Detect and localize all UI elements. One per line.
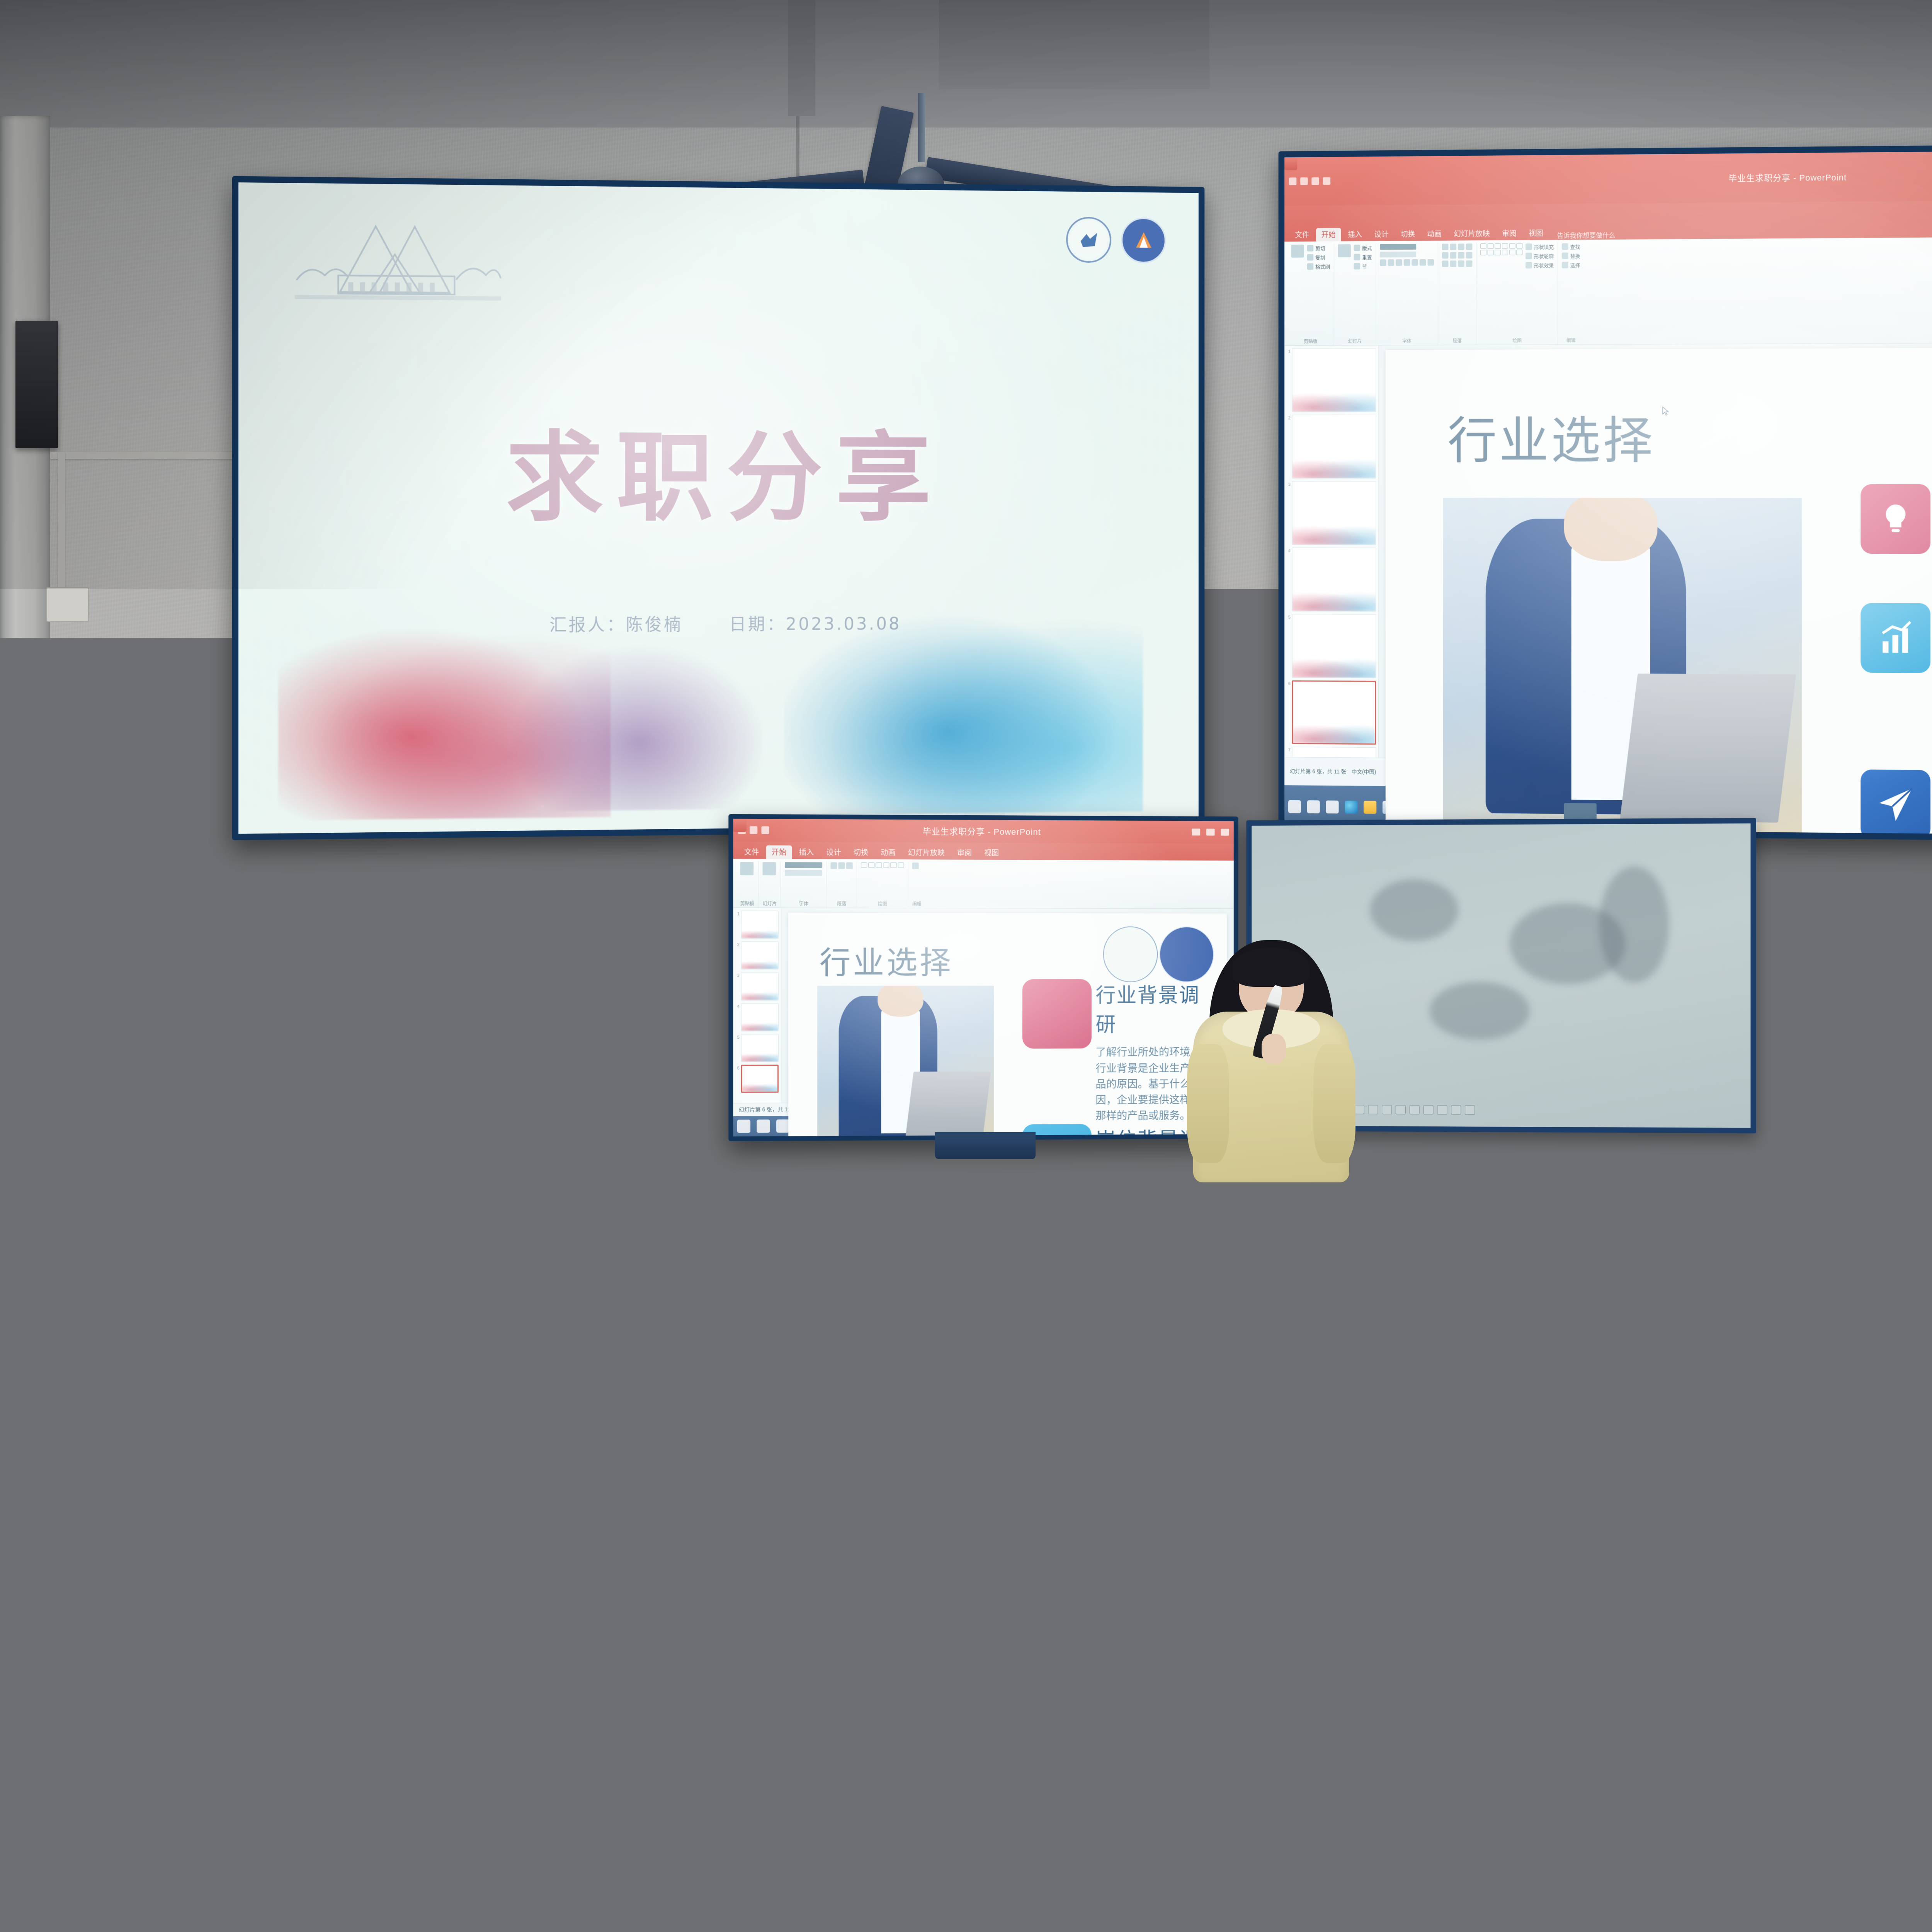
replace-icon	[1562, 253, 1568, 259]
copy-button[interactable]: 复制	[1307, 254, 1330, 261]
close-icon[interactable]	[1221, 829, 1229, 836]
monitor-tab-home[interactable]: 开始	[766, 845, 792, 859]
align-center-icon[interactable]	[1450, 261, 1456, 267]
bullets-icon[interactable]	[830, 862, 837, 869]
select-button[interactable]: 选择	[1562, 262, 1580, 269]
monitor-title-bar: 毕业生求职分享 - PowerPoint	[733, 819, 1233, 844]
ribbon-group-drawing[interactable]: 形状填充 形状轮廓 形状效果 绘图	[1476, 242, 1558, 345]
clipboard-group-label: 剪贴板	[1291, 337, 1330, 345]
podium-monitor-surface: 毕业生求职分享 - PowerPoint 文件 开始 插入 设计 切换 动画 幻…	[733, 819, 1233, 1136]
shape-banner-icon[interactable]	[1509, 250, 1515, 255]
monitor-workspace: 1 2 3 4 5 6 行业选择	[733, 908, 1233, 1103]
ribbon[interactable]: 剪切 复制 格式刷 剪贴板	[1284, 235, 1932, 346]
thumbnail-number: 4	[736, 1003, 740, 1009]
slide-bullet-blocks: 行业背景调研 了解行业所处的环境、行业背景是企业生产产品的原因。基于什么原因，企…	[1861, 484, 1932, 837]
lightbulb-icon	[1022, 979, 1091, 1049]
thumbnail-number: 1	[736, 911, 740, 917]
slide-editing-canvas[interactable]: 行业选择	[1379, 342, 1932, 764]
left-projection-screen: 求职分享 汇报人：陈俊楠日期：2023.03.08	[232, 176, 1205, 840]
font-color-icon[interactable]	[1428, 259, 1434, 266]
monitor-tab-strip[interactable]: 文件 开始 插入 设计 切换 动画 幻灯片放映 审阅 视图	[733, 842, 1233, 861]
font-size-box[interactable]	[1380, 252, 1416, 257]
find-label: 查找	[1570, 243, 1580, 250]
slide-thumbnail-4[interactable]	[1292, 548, 1376, 612]
layout-icon	[1354, 245, 1361, 252]
slide-emblem-group	[1066, 217, 1166, 264]
shape-effects-label: 形状效果	[1534, 262, 1554, 269]
camera-on-desk	[846, 1522, 947, 1596]
monitor-slide-heading: 行业选择	[820, 938, 953, 983]
shape-line-icon[interactable]	[1488, 243, 1494, 249]
slide-thumbnail-3[interactable]	[1292, 481, 1376, 545]
shape-fill-label: 形状填充	[1534, 243, 1554, 250]
powerpoint-window: 毕业生求职分享 - PowerPoint 文件 开始 插入 设计 切换 动画 幻…	[1284, 148, 1932, 837]
thumbnail-number: 3	[1287, 481, 1291, 487]
university-emblem-round	[1066, 217, 1111, 263]
reset-button[interactable]: 重置	[1354, 253, 1372, 261]
monitor-shape-gallery[interactable]	[861, 862, 904, 868]
monitor-ribbon[interactable]: 剪贴板 幻灯片 字体 段落	[733, 859, 1233, 909]
search-icon[interactable]	[1307, 800, 1320, 813]
monitor-tab-transitions[interactable]: 切换	[848, 845, 874, 859]
whiteboard-smudge	[1370, 879, 1459, 941]
bullets-icon[interactable]	[1442, 244, 1449, 250]
paper-plane-icon	[1861, 770, 1930, 837]
ribbon-tab-strip[interactable]: 文件 开始 插入 设计 切换 动画 幻灯片放映 审阅 视图 告诉我你想要做什么 …	[1284, 198, 1932, 242]
podium-monitor-powerpoint: 毕业生求职分享 - PowerPoint 文件 开始 插入 设计 切换 动画 幻…	[733, 819, 1233, 1136]
tab-view[interactable]: 视图	[1523, 227, 1548, 240]
monitor-group-clipboard[interactable]: 剪贴板	[736, 861, 759, 908]
audience-head	[622, 1173, 701, 1252]
thumbnail-row[interactable]: 3	[736, 972, 779, 1000]
italic-icon[interactable]	[1388, 260, 1395, 266]
quick-access-toolbar[interactable]	[1289, 177, 1330, 185]
slide-heading[interactable]: 行业选择	[1447, 400, 1655, 473]
power-outlet-left[interactable]	[46, 587, 89, 622]
text-direction-icon[interactable]	[1450, 252, 1456, 259]
monitor-editing-label: 编辑	[912, 900, 922, 907]
photo-head	[1564, 498, 1657, 561]
reset-label: 重置	[1362, 253, 1372, 261]
fan-rod	[918, 93, 925, 162]
thumbnail-row[interactable]: 2	[1287, 415, 1376, 478]
thumbnail-row[interactable]: 2	[736, 942, 779, 970]
shape-callout-icon[interactable]	[1480, 250, 1486, 255]
smartart-icon[interactable]	[1466, 252, 1473, 259]
audience-head	[900, 1108, 960, 1172]
audience-head	[1028, 1109, 1090, 1174]
thumbnail-number: 1	[1287, 349, 1291, 354]
slide-thumbnail-7[interactable]	[1292, 747, 1376, 757]
align-text-icon[interactable]	[1458, 252, 1464, 259]
paste-icon[interactable]	[740, 862, 753, 875]
thumbnail-row[interactable]: 1	[1287, 348, 1376, 412]
shape-outline-icon	[1526, 253, 1532, 260]
audience-head	[1310, 1184, 1392, 1265]
shape-star-icon[interactable]	[890, 862, 896, 868]
presenter-label: 汇报人：	[549, 615, 626, 635]
task-view-icon[interactable]	[1326, 800, 1338, 813]
right-screen-surface: 毕业生求职分享 - PowerPoint 文件 开始 插入 设计 切换 动画 幻…	[1284, 148, 1932, 837]
audience-head	[777, 1105, 835, 1167]
justify-icon[interactable]	[1466, 260, 1473, 267]
shape-triangle-icon[interactable]	[1509, 243, 1515, 249]
align-left-icon[interactable]	[1442, 261, 1449, 267]
thumbnail-row[interactable]: 6	[1287, 680, 1376, 745]
shape-flowchart-icon[interactable]	[1517, 250, 1523, 255]
jacket-brand-tag: Athlef®	[410, 1499, 481, 1522]
tab-design[interactable]: 设计	[1369, 228, 1394, 241]
search-icon	[912, 862, 919, 869]
shape-connector-icon[interactable]	[1502, 250, 1508, 255]
audience-head	[1144, 1182, 1226, 1264]
slide-block-industry: 行业背景调研 了解行业所处的环境、行业背景是企业生产产品的原因。基于什么原因，企…	[1861, 484, 1932, 604]
cut-label: 剪切	[1315, 245, 1325, 252]
underline-icon[interactable]	[1396, 259, 1402, 266]
monitor-document-title: 毕业生求职分享 - PowerPoint	[775, 824, 1187, 838]
presenter-name: 陈俊楠	[626, 615, 683, 635]
audience-head	[468, 1165, 547, 1245]
whiteboard-smudge	[1430, 982, 1530, 1040]
thumbnail-number: 2	[1287, 415, 1291, 421]
shape-outline-label: 形状轮廓	[1534, 252, 1554, 260]
monitor-slides-label: 幻灯片	[763, 900, 777, 907]
ribbon-group-slides[interactable]: 版式 重置 节 幻灯片	[1334, 243, 1376, 345]
decrease-indent-icon[interactable]	[1458, 244, 1464, 250]
monitor-group-slides[interactable]: 幻灯片	[759, 861, 781, 908]
copy-label: 复制	[1315, 254, 1325, 261]
tab-review[interactable]: 审阅	[1497, 227, 1522, 240]
bench-desk-bottom	[0, 1913, 1584, 1932]
thumbnail-row[interactable]: 3	[1287, 481, 1376, 545]
thumbnail-number: 4	[1287, 548, 1291, 553]
smoke-detector	[23, 723, 44, 743]
monitor-font-label: 字体	[785, 900, 822, 907]
lecture-hall-photo: 17 13 40	[0, 0, 1932, 1932]
thumbnail-number: 5	[736, 1034, 740, 1040]
thumbnail-row[interactable]: 7	[1287, 747, 1376, 757]
monitor-tab-insert[interactable]: 插入	[793, 845, 819, 859]
hoodie-line-4: ng to life	[354, 1572, 430, 1599]
shape-callout-icon[interactable]	[898, 862, 904, 868]
section-label: 节	[1362, 263, 1367, 270]
monitor-slide-thumbnail-1[interactable]	[741, 911, 779, 939]
title-slide-heading: 求职分享	[238, 397, 1199, 539]
tell-me-box[interactable]: 告诉我你想要做什么	[1557, 230, 1615, 240]
document-title: 毕业生求职分享 - PowerPoint	[1336, 167, 1932, 187]
monitor-tab-file[interactable]: 文件	[739, 845, 765, 859]
bench-rail-front	[0, 1816, 1584, 1859]
shape-outline-button[interactable]: 形状轮廓	[1526, 252, 1554, 260]
slide-thumbnail-1[interactable]	[1292, 348, 1376, 412]
hoodie-line-3: in a	[304, 1604, 338, 1628]
slide-photo	[1443, 498, 1802, 837]
slide-block-company: 公司背景调研 所属行业；客户公司性质（若为中外合资、需注明合资方及投资比例）；注…	[1861, 770, 1932, 837]
thumbnail-number: 6	[736, 1065, 740, 1070]
thumbnail-row[interactable]: 5	[736, 1034, 779, 1062]
font-name-box[interactable]	[785, 862, 822, 868]
shape-arrow-icon[interactable]	[1495, 243, 1501, 249]
slide-thumbnail-panel[interactable]: 1 2 3 4	[1284, 345, 1379, 758]
slide-thumbnail-5[interactable]	[1292, 614, 1376, 678]
find-button[interactable]: 查找	[1562, 243, 1580, 250]
bold-icon[interactable]	[1380, 260, 1386, 266]
monitor-tab-slideshow[interactable]: 幻灯片放映	[903, 846, 950, 860]
date-label: 日期：	[729, 615, 786, 635]
university-emblem-round	[1103, 927, 1158, 982]
audience-head	[1464, 1191, 1546, 1272]
ribbon-group-paragraph[interactable]: 段落	[1438, 243, 1476, 345]
audience-head	[981, 1179, 1063, 1260]
monitor-clipboard-label: 剪贴板	[740, 900, 755, 907]
select-label: 选择	[1570, 262, 1580, 269]
audience-head	[1441, 1097, 1505, 1163]
monitor-group-paragraph[interactable]: 段落	[827, 861, 857, 908]
format-painter-icon	[1307, 264, 1314, 270]
audience-head	[572, 1291, 673, 1392]
undo-icon[interactable]	[750, 827, 757, 834]
current-slide[interactable]: 行业选择	[1385, 347, 1932, 837]
monitor-window-controls[interactable]	[1192, 829, 1229, 836]
minimize-icon[interactable]	[1192, 829, 1200, 836]
slide-block-position: 岗位背景调研 岗位分析是对企业各个岗位的设置目的、性质、任务、职责、权力、隶属关…	[1861, 603, 1932, 772]
thumbnail-number: 6	[1287, 680, 1291, 686]
layout-button[interactable]: 版式	[1354, 244, 1372, 252]
audience-head	[1816, 1108, 1879, 1173]
shape-effects-icon	[1526, 262, 1532, 269]
thumbnail-row[interactable]: 4	[736, 1003, 779, 1031]
monitor-tab-review[interactable]: 审阅	[952, 846, 977, 859]
wall-speaker-left	[15, 321, 58, 448]
format-painter-label: 格式刷	[1315, 263, 1330, 270]
audience-head	[1629, 1178, 1712, 1260]
increase-indent-icon[interactable]	[1466, 244, 1473, 250]
ribbon-group-font[interactable]: 字体	[1376, 243, 1438, 345]
copy-icon	[1307, 254, 1314, 261]
monitor-tab-design[interactable]: 设计	[821, 845, 847, 859]
monitor-tab-view[interactable]: 视图	[979, 846, 1004, 860]
bar-chart-icon	[1861, 603, 1930, 673]
align-left-icon[interactable]	[846, 862, 853, 869]
font-size-box[interactable]	[785, 870, 822, 876]
shape-curve-icon[interactable]	[1488, 250, 1494, 255]
shape-oval-icon[interactable]	[868, 862, 874, 868]
powerpoint-icon[interactable]	[733, 819, 746, 832]
photo-laptop	[1620, 673, 1796, 822]
thumbnail-row[interactable]: 1	[736, 911, 779, 939]
audience-seating: painting h's ng to life in a way ALL THE…	[0, 1090, 1932, 1932]
date-value: 2023.03.08	[786, 614, 901, 634]
slides-group-label: 幻灯片	[1338, 337, 1372, 344]
shape-star-icon[interactable]	[1517, 243, 1523, 249]
cable-conduit-left	[50, 452, 251, 459]
shape-fill-button[interactable]: 形状填充	[1526, 243, 1554, 250]
section-button[interactable]: 节	[1354, 263, 1372, 270]
tab-transitions[interactable]: 切换	[1395, 228, 1420, 241]
undo-icon[interactable]	[1300, 177, 1308, 185]
ribbon-group-editing[interactable]: 查找 替换 选择 编辑	[1558, 242, 1584, 344]
ppt-workspace: 1 2 3 4	[1284, 342, 1932, 764]
lightbulb-icon	[1861, 484, 1930, 554]
presenter-fringe	[1232, 947, 1310, 987]
shape-rectangle-icon[interactable]	[1480, 243, 1486, 249]
thumbnail-number: 7	[1287, 747, 1291, 752]
audience-head	[191, 1298, 291, 1398]
save-icon[interactable]	[1289, 178, 1296, 185]
audience-head	[1501, 1300, 1606, 1405]
line-spacing-icon[interactable]	[1442, 252, 1449, 259]
cut-button[interactable]: 剪切	[1307, 245, 1330, 252]
strikethrough-icon[interactable]	[1412, 259, 1418, 266]
slide-thumbnail-2[interactable]	[1292, 415, 1376, 478]
replace-label: 替换	[1570, 252, 1580, 260]
monitor-slide-thumbnail-5[interactable]	[741, 1034, 779, 1062]
numbering-icon[interactable]	[838, 862, 845, 869]
presenter-hand	[1262, 1034, 1286, 1064]
tab-file[interactable]: 文件	[1290, 228, 1315, 242]
thumbnail-row[interactable]: 6	[736, 1065, 779, 1093]
format-painter-button[interactable]: 格式刷	[1307, 263, 1330, 270]
drawing-group-label: 绘图	[1480, 336, 1554, 344]
wall-column-left	[0, 116, 50, 1159]
character-spacing-icon[interactable]	[1420, 259, 1426, 266]
audience-head	[1065, 1314, 1170, 1419]
campus-building-sketch	[290, 216, 506, 308]
monitor-slide-thumbnail-6-selected[interactable]	[741, 1065, 779, 1093]
text-shadow-icon[interactable]	[1404, 259, 1410, 266]
monitor-slide-canvas[interactable]: 行业选择	[781, 908, 1234, 1102]
college-emblem-blue	[1121, 218, 1166, 264]
scissors-icon	[1307, 245, 1314, 252]
audience-head	[1687, 1100, 1752, 1167]
tab-insert[interactable]: 插入	[1342, 228, 1367, 241]
monitor-slide-thumbnail-2[interactable]	[741, 942, 779, 970]
monitor-group-editing[interactable]: 编辑	[908, 862, 925, 908]
paragraph-group-label: 段落	[1442, 337, 1473, 344]
section-icon	[1354, 263, 1361, 270]
font-name-box[interactable]	[1380, 244, 1416, 250]
hoodie-line-5: way	[341, 1601, 377, 1625]
left-screen-surface: 求职分享 汇报人：陈俊楠日期：2023.03.08	[238, 182, 1199, 834]
monitor-paragraph-label: 段落	[830, 900, 852, 907]
start-slideshow-icon[interactable]	[1323, 177, 1331, 185]
monitor-group-font[interactable]: 字体	[781, 861, 827, 908]
monitor-slide-thumbnail-4[interactable]	[741, 1003, 779, 1031]
monitor-group-drawing[interactable]: 绘图	[857, 862, 908, 908]
shape-fill-icon	[1526, 244, 1532, 250]
start-icon[interactable]	[1288, 800, 1301, 813]
thumbnail-row[interactable]: 5	[1287, 614, 1376, 678]
edge-icon[interactable]	[1345, 801, 1357, 814]
audience-head	[27, 1159, 106, 1238]
bench-rail-back	[1376, 1414, 1669, 1434]
audience-head	[1567, 1104, 1629, 1169]
shape-effects-button[interactable]: 形状效果	[1526, 262, 1554, 269]
monitor-drawing-label: 绘图	[861, 900, 904, 907]
thumbnail-number: 2	[736, 942, 740, 947]
reset-icon	[1354, 254, 1361, 260]
file-explorer-icon[interactable]	[1364, 801, 1376, 814]
monitor-slide-thumbnail-3[interactable]	[741, 972, 779, 1000]
monitor-thumbnail-panel[interactable]: 1 2 3 4 5 6	[733, 908, 781, 1103]
restore-icon[interactable]	[1206, 829, 1215, 836]
numbering-icon[interactable]	[1450, 244, 1456, 250]
editing-group-label: 编辑	[1562, 336, 1580, 344]
tab-animations[interactable]: 动画	[1422, 227, 1447, 241]
thumbnail-number: 3	[736, 972, 740, 978]
slide-counter: 幻灯片第 6 张，共 11 张	[1290, 767, 1346, 776]
thumbnail-row[interactable]: 4	[1287, 548, 1376, 612]
shape-gallery[interactable]	[1480, 243, 1522, 255]
powerpoint-icon[interactable]	[1284, 157, 1297, 170]
audience-head	[21, 1281, 124, 1383]
shape-freeform-icon[interactable]	[1495, 250, 1501, 255]
search-icon	[1562, 243, 1568, 250]
shape-line-icon[interactable]	[883, 862, 889, 868]
layout-label: 版式	[1362, 244, 1372, 252]
audience-head	[771, 1306, 871, 1406]
align-right-icon[interactable]	[1458, 260, 1464, 267]
audience-head	[595, 1461, 761, 1623]
right-projection-screen: 毕业生求职分享 - PowerPoint 文件 开始 插入 设计 切换 动画 幻…	[1279, 142, 1932, 843]
replace-button[interactable]: 替换	[1562, 252, 1580, 260]
photo-head	[878, 986, 923, 1017]
ribbon-group-clipboard[interactable]: 剪切 复制 格式刷 剪贴板	[1287, 244, 1334, 345]
redo-icon[interactable]	[1311, 177, 1319, 185]
audience-head	[197, 1169, 276, 1248]
ppt-title-bar: 毕业生求职分享 - PowerPoint	[1284, 148, 1932, 206]
paste-icon[interactable]	[1291, 245, 1304, 258]
thumbnail-number: 5	[1287, 614, 1291, 620]
select-icon	[1562, 262, 1568, 269]
audience-head	[216, 1422, 379, 1584]
monitor-tab-animations[interactable]: 动画	[875, 846, 901, 859]
new-slide-icon[interactable]	[763, 862, 776, 875]
new-slide-icon[interactable]	[1338, 245, 1351, 258]
bench-rail-mid	[587, 1507, 1569, 1533]
redo-icon[interactable]	[761, 827, 769, 834]
title-slide-subtitle: 汇报人：陈俊楠日期：2023.03.08	[238, 609, 1199, 638]
font-group-label: 字体	[1380, 337, 1434, 344]
shape-rectangle-icon[interactable]	[861, 862, 867, 868]
ceiling-beam-right	[939, 0, 1209, 89]
slide-thumbnail-6-selected[interactable]	[1292, 680, 1376, 745]
shape-arrow-icon[interactable]	[876, 862, 882, 868]
mouse-cursor-icon	[1662, 406, 1669, 417]
whiteboard-smudge	[1599, 866, 1669, 983]
shape-oval-icon[interactable]	[1502, 243, 1508, 249]
find-button[interactable]	[912, 862, 919, 869]
language-indicator[interactable]: 中文(中国)	[1352, 768, 1376, 776]
tab-slideshow[interactable]: 幻灯片放映	[1449, 227, 1495, 241]
tab-home[interactable]: 开始	[1316, 228, 1341, 241]
